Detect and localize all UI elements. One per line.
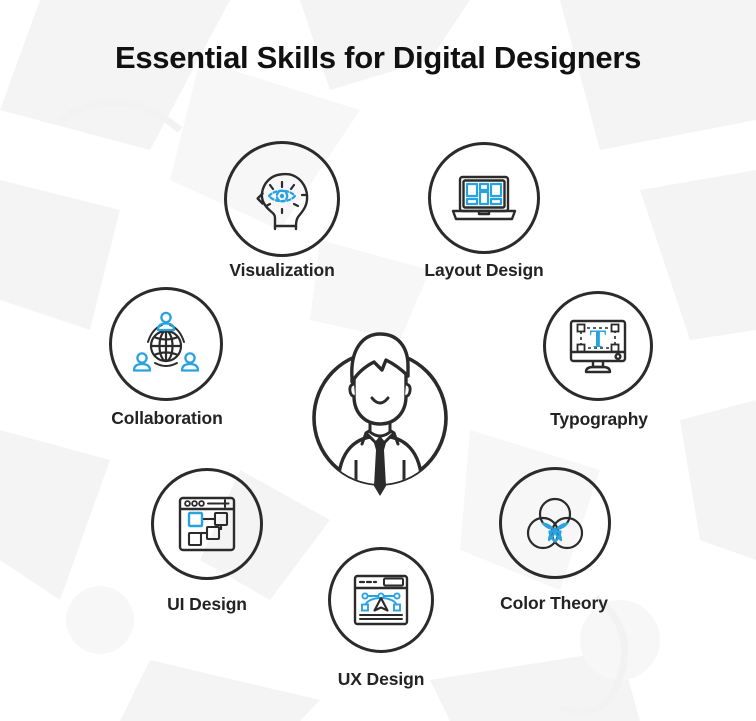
infographic-canvas: Essential Skills for Digital Designers bbox=[0, 0, 756, 721]
skill-circle-typography[interactable]: T bbox=[543, 291, 653, 401]
skill-label-collaboration: Collaboration bbox=[67, 408, 267, 429]
skill-circle-visualization[interactable] bbox=[224, 141, 340, 257]
skill-circle-layout-design[interactable] bbox=[428, 142, 540, 254]
skill-label-visualization: Visualization bbox=[182, 260, 382, 281]
skill-circle-collaboration[interactable] bbox=[109, 287, 223, 401]
skill-circle-ux-design[interactable] bbox=[328, 547, 434, 653]
laptop-layout-icon bbox=[447, 161, 521, 235]
browser-pen-path-icon bbox=[346, 565, 416, 635]
skill-label-layout-design: Layout Design bbox=[384, 260, 584, 281]
globe-people-icon bbox=[128, 306, 204, 382]
svg-text:T: T bbox=[590, 326, 607, 353]
page-title: Essential Skills for Digital Designers bbox=[0, 40, 756, 76]
skill-label-ui-design: UI Design bbox=[107, 594, 307, 615]
window-flowchart-icon bbox=[170, 487, 244, 561]
venn-circles-icon bbox=[519, 487, 591, 559]
skill-label-ux-design: UX Design bbox=[281, 669, 481, 690]
skill-circle-color-theory[interactable] bbox=[499, 467, 611, 579]
monitor-letter-t-icon: T bbox=[562, 310, 634, 382]
head-eye-icon bbox=[245, 162, 319, 236]
skill-label-color-theory: Color Theory bbox=[454, 593, 654, 614]
designer-avatar[interactable] bbox=[298, 318, 462, 500]
skill-label-typography: Typography bbox=[499, 409, 699, 430]
skill-circle-ui-design[interactable] bbox=[151, 468, 263, 580]
